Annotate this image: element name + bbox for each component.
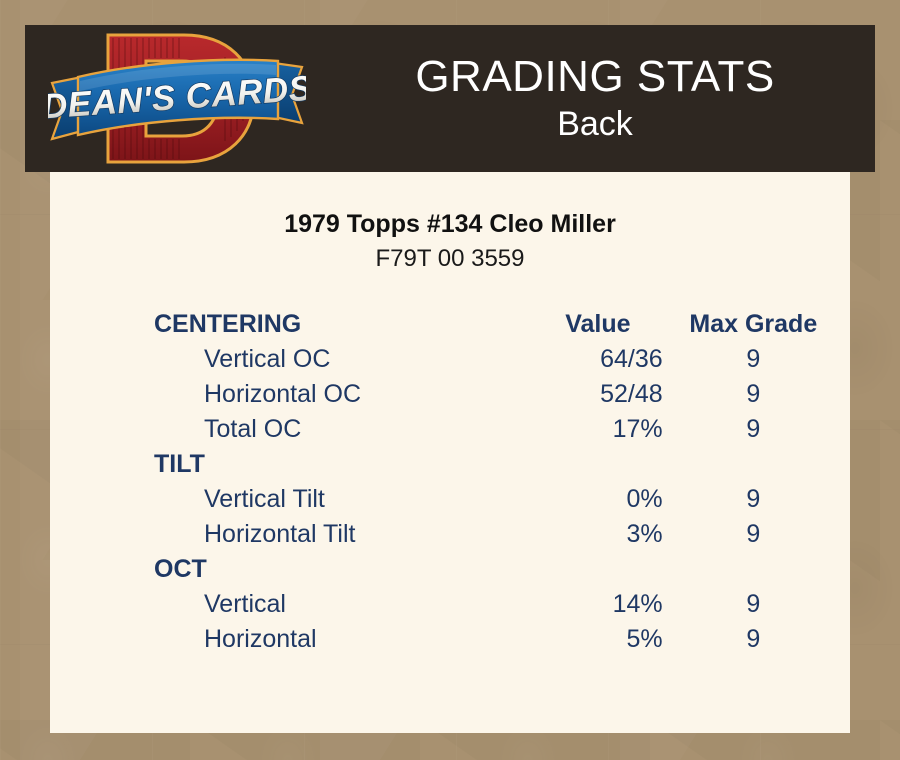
stat-label: Vertical [154,587,515,622]
stat-max-grade: 9 [681,412,826,447]
table-row: Horizontal Tilt 3% 9 [154,517,826,552]
stat-max-grade: 9 [681,587,826,622]
stat-max-grade: 9 [681,482,826,517]
stat-value: 64/36 [515,342,680,377]
stat-max-grade: 9 [681,517,826,552]
grading-stats-page: DEAN'S CARDS GRADING STATS Back 1979 Top… [0,0,900,760]
stat-max-grade: 9 [681,342,826,377]
table-row: Vertical 14% 9 [154,587,826,622]
section-value-empty [515,552,680,587]
table-row: Horizontal 5% 9 [154,622,826,657]
table-row: Vertical OC 64/36 9 [154,342,826,377]
table-row: Total OC 17% 9 [154,412,826,447]
header-title-group: GRADING STATS Back [315,25,875,172]
section-header-centering: CENTERING [154,307,515,342]
table-body: CENTERING Value Max Grade Vertical OC 64… [154,307,826,657]
deans-cards-logo[interactable]: DEAN'S CARDS [48,27,306,170]
column-header-max-grade: Max Grade [681,307,826,342]
table-header-row: CENTERING Value Max Grade [154,307,826,342]
table-row: Horizontal OC 52/48 9 [154,377,826,412]
column-header-value: Value [515,307,680,342]
stat-max-grade: 9 [681,622,826,657]
section-grade-empty [681,447,826,482]
stat-label: Vertical Tilt [154,482,515,517]
stat-value: 3% [515,517,680,552]
stat-value: 17% [515,412,680,447]
section-header-oct: OCT [154,552,515,587]
table-row: Vertical Tilt 0% 9 [154,482,826,517]
card-code: F79T 00 3559 [50,245,850,273]
section-row-oct: OCT [154,552,826,587]
stat-max-grade: 9 [681,377,826,412]
stat-label: Horizontal [154,622,515,657]
card-title: 1979 Topps #134 Cleo Miller [50,210,850,239]
stat-label: Vertical OC [154,342,515,377]
stat-label: Total OC [154,412,515,447]
page-subtitle: Back [557,106,633,143]
page-title: GRADING STATS [415,54,774,100]
logo-artwork: DEAN'S CARDS [48,27,306,170]
stat-value: 5% [515,622,680,657]
header-bar: DEAN'S CARDS GRADING STATS Back [25,25,875,172]
logo-svg: DEAN'S CARDS [48,27,306,170]
stat-value: 14% [515,587,680,622]
stat-label: Horizontal Tilt [154,517,515,552]
section-value-empty [515,447,680,482]
stat-value: 0% [515,482,680,517]
section-row-tilt: TILT [154,447,826,482]
content-panel: 1979 Topps #134 Cleo Miller F79T 00 3559… [50,172,850,733]
section-grade-empty [681,552,826,587]
card-title-block: 1979 Topps #134 Cleo Miller F79T 00 3559 [50,210,850,272]
stat-label: Horizontal OC [154,377,515,412]
section-header-tilt: TILT [154,447,515,482]
stat-value: 52/48 [515,377,680,412]
grading-stats-table: CENTERING Value Max Grade Vertical OC 64… [154,307,826,657]
